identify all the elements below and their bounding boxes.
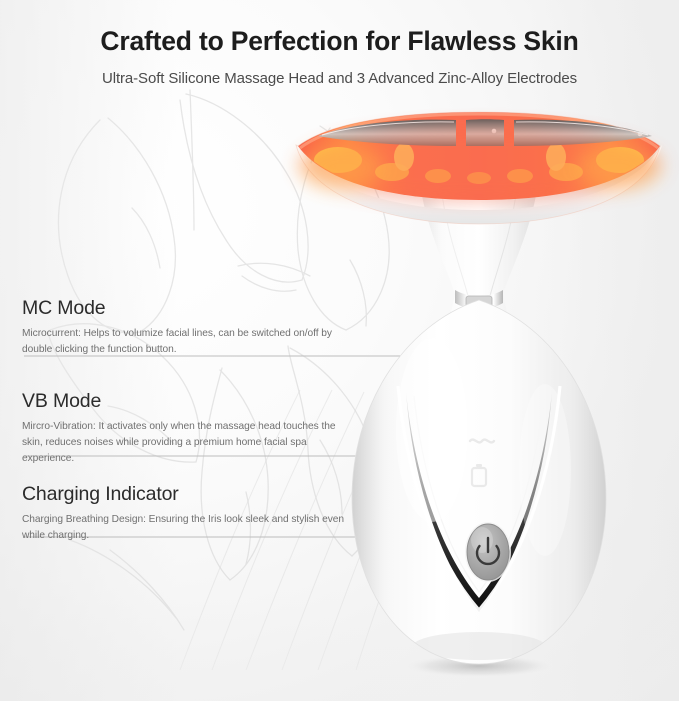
electrode-center	[466, 119, 504, 146]
electrode-center-screw	[492, 129, 497, 134]
feature-block-vb: VB Mode Mircro-Vibration: It activates o…	[22, 390, 352, 466]
feature-title-charging: Charging Indicator	[22, 483, 352, 506]
product-infographic: Crafted to Perfection for Flawless Skin …	[0, 0, 679, 701]
feature-title-mc: MC Mode	[22, 297, 352, 320]
feature-description-vb: Mircro-Vibration: It activates only when…	[22, 419, 352, 466]
feature-block-charging: Charging Indicator Charging Breathing De…	[22, 483, 352, 544]
feature-title-vb: VB Mode	[22, 390, 352, 413]
feature-description-charging: Charging Breathing Design: Ensuring the …	[22, 512, 352, 544]
power-button	[465, 522, 511, 582]
feature-block-mc: MC Mode Microcurrent: Helps to volumize …	[22, 297, 352, 358]
feature-description-mc: Microcurrent: Helps to volumize facial l…	[22, 326, 352, 358]
